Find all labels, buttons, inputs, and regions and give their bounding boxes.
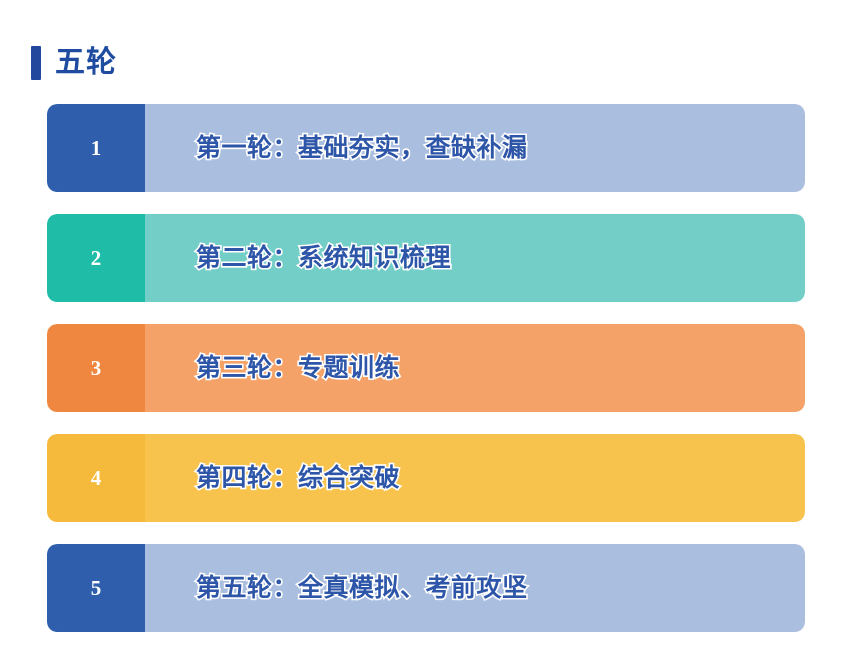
round-label: 第三轮：专题训练 [196, 356, 400, 381]
round-label: 第一轮：基础夯实，查缺补漏 [196, 136, 528, 161]
round-body-2: 第二轮：系统知识梳理 [145, 214, 805, 302]
round-number: 1 [91, 138, 102, 159]
header-accent-bar [31, 46, 41, 80]
round-body-4: 第四轮：综合突破 [145, 434, 805, 522]
round-label: 第四轮：综合突破 [196, 466, 400, 491]
round-body-1: 第一轮：基础夯实，查缺补漏 [145, 104, 805, 192]
round-body-3: 第三轮：专题训练 [145, 324, 805, 412]
round-number: 5 [91, 578, 102, 599]
round-number: 4 [91, 468, 102, 489]
round-label: 第五轮：全真模拟、考前攻坚 [196, 576, 528, 601]
round-badge-2: 2 [47, 214, 145, 302]
page-header: 五轮 [31, 44, 117, 82]
round-label: 第二轮：系统知识梳理 [196, 246, 451, 271]
round-number: 2 [91, 248, 102, 269]
rounds-list: 1 第一轮：基础夯实，查缺补漏 2 第二轮：系统知识梳理 3 第三轮：专题训练 … [47, 104, 805, 632]
round-row[interactable]: 4 第四轮：综合突破 [47, 434, 805, 522]
round-row[interactable]: 5 第五轮：全真模拟、考前攻坚 [47, 544, 805, 632]
round-body-5: 第五轮：全真模拟、考前攻坚 [145, 544, 805, 632]
round-badge-1: 1 [47, 104, 145, 192]
round-row[interactable]: 3 第三轮：专题训练 [47, 324, 805, 412]
round-badge-4: 4 [47, 434, 145, 522]
round-badge-3: 3 [47, 324, 145, 412]
page-title: 五轮 [55, 48, 117, 78]
round-row[interactable]: 2 第二轮：系统知识梳理 [47, 214, 805, 302]
round-number: 3 [91, 358, 102, 379]
round-row[interactable]: 1 第一轮：基础夯实，查缺补漏 [47, 104, 805, 192]
round-badge-5: 5 [47, 544, 145, 632]
